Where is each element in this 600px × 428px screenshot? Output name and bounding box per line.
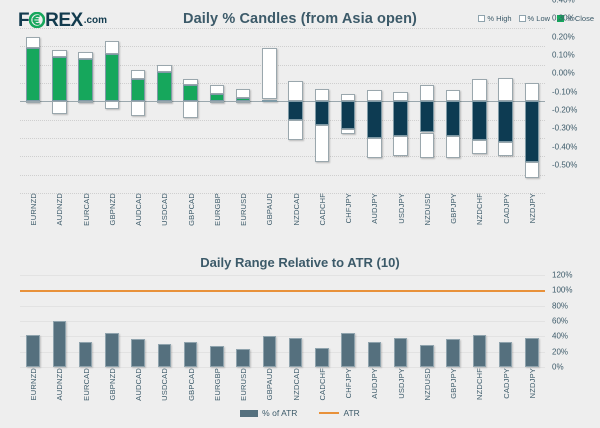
candle-low-segment [157,101,172,103]
y-axis-tick-label: 0.30% [552,14,575,23]
x-axis-tick-label: CHFJPY [344,368,353,398]
atr-bar [315,348,329,367]
atr-bar [499,342,513,367]
y-axis-tick-label: 0.40% [552,0,575,5]
atr-bar [158,344,172,367]
legend-label-atr: ATR [343,408,359,418]
candle [26,28,41,193]
y-axis-tick-label: 0.00% [552,69,575,78]
candle-close-body [288,101,303,119]
candle-low-segment [472,140,487,155]
x-axis-tick-label: NZDUSD [423,193,432,225]
atr-bar [53,321,67,367]
y-axis-tick-label: -0.10% [552,87,577,96]
candle-low-segment [341,129,356,135]
candle-close-body [315,101,330,125]
candle-high-segment [236,89,251,98]
candle-close-body [420,101,435,132]
atr-bar [420,345,434,367]
candle-high-segment [288,81,303,101]
x-axis-tick-label: GBPCAD [187,193,196,226]
candle-close-body [262,100,277,102]
candle-high-segment [341,94,356,101]
y-axis-tick-label: -0.40% [552,142,577,151]
legend-swatch-pct-of-atr [240,410,258,417]
atr-bar [210,346,224,367]
x-axis-tick-label: NZDCAD [292,368,301,400]
candle [472,28,487,193]
y-axis-tick-label: 100% [552,286,572,295]
candle [210,28,225,193]
atr-bar [131,339,145,367]
candle-close-body [131,79,146,101]
atr-bar [525,338,539,367]
x-axis-tick-label: USDJPY [397,368,406,399]
candle-low-segment [288,120,303,140]
x-axis-tick-label: NZDCHF [475,193,484,225]
candles-plot-area [20,28,545,193]
candles-x-axis: EURNZDAUDNZDEURCADGBPNZDAUDCADUSDCADGBPC… [20,193,545,241]
x-axis-tick-label: GBPJPY [449,368,458,399]
x-axis-tick-label: EURNZD [29,193,38,225]
legend-item-atr: ATR [319,408,359,418]
x-axis-tick-label: GBPNZD [108,193,117,225]
y-axis-tick-label: -0.50% [552,161,577,170]
x-axis-tick-label: AUDCAD [134,368,143,401]
atr-bar [394,338,408,367]
grid-line [20,138,545,139]
candle [341,28,356,193]
candle [393,28,408,193]
candle-high-segment [367,90,382,101]
candle [131,28,146,193]
candle-low-segment [367,138,382,158]
atr-bar [263,336,277,367]
candle-low-segment [420,133,435,159]
candle-low-segment [393,136,408,156]
y-axis-tick-label: 40% [552,332,568,341]
x-axis-tick-label: GBPCAD [187,368,196,401]
atr-bar [368,342,382,367]
atr-bar [105,333,119,368]
y-axis-tick-label: 20% [552,347,568,356]
grid-line [20,46,545,47]
candle-low-segment [446,136,461,158]
candle-close-body [157,72,172,101]
candle [498,28,513,193]
grid-line [20,352,545,353]
candle-close-body [52,57,67,101]
candle [262,28,277,193]
grid-line [20,156,545,157]
candle-close-body [210,94,225,101]
atr-y-axis: 120%100%80%60%40%20%0% [552,275,600,367]
grid-line [20,306,545,307]
y-axis-tick-label: 0.20% [552,32,575,41]
candle-high-segment [157,65,172,72]
candle-high-segment [472,79,487,101]
atr-bar [446,339,460,367]
candle-low-segment [183,101,198,118]
candle [157,28,172,193]
candle-high-segment [262,48,277,99]
candle-close-body [78,59,93,101]
atr-bar [289,338,303,367]
candle-high-segment [26,37,41,48]
legend-swatch-low [519,15,526,22]
candle-close-body [26,48,41,101]
atr-bar [341,333,355,368]
legend-label-high: % High [487,14,511,23]
y-axis-tick-label: 0.10% [552,51,575,60]
candle [52,28,67,193]
candle-close-body [183,85,198,102]
x-axis-tick-label: CADCHF [318,193,327,225]
candle [236,28,251,193]
candle-low-segment [52,101,67,114]
x-axis-tick-label: CADJPY [502,193,511,224]
candle-close-body [525,101,540,162]
x-axis-tick-label: AUDJPY [370,193,379,224]
candle-close-body [341,101,356,129]
x-axis-tick-label: CADCHF [318,368,327,400]
atr-plot-area [20,275,545,367]
atr-bar [473,335,487,367]
candle-close-body [367,101,382,138]
y-axis-tick-label: 0% [552,363,564,372]
candle-low-segment [236,101,251,103]
x-axis-tick-label: AUDNZD [55,368,64,400]
daily-percent-candles-chart [0,28,600,193]
bottom-chart-legend: % of ATR ATR [0,408,600,418]
x-axis-tick-label: EURCAD [82,193,91,226]
y-axis-tick-label: 80% [552,301,568,310]
x-axis-tick-label: GBPNZD [108,368,117,400]
candle-low-segment [315,125,330,162]
x-axis-tick-label: CHFJPY [344,193,353,223]
candle-low-segment [210,101,225,103]
candle [315,28,330,193]
grid-line [20,28,545,29]
zero-line [20,101,545,102]
legend-item-low: % Low [519,14,551,23]
x-axis-tick-label: AUDJPY [370,368,379,399]
grid-line [20,83,545,84]
candle-low-segment [525,162,540,179]
y-axis-tick-label: 60% [552,317,568,326]
atr-reference-line [20,290,545,292]
atr-bar [26,335,40,367]
legend-label-pct-of-atr: % of ATR [262,408,297,418]
y-axis-tick-label: 120% [552,271,572,280]
x-axis-tick-label: USDCAD [160,368,169,401]
candle-low-segment [105,101,120,108]
grid-line [20,65,545,66]
x-axis-tick-label: EURNZD [29,368,38,400]
grid-line [20,120,545,121]
candle-high-segment [446,90,461,101]
x-axis-tick-label: NZDJPY [528,193,537,223]
legend-label-low: % Low [528,14,551,23]
x-axis-tick-label: NZDCHF [475,368,484,400]
candle [183,28,198,193]
legend-item-pct-of-atr: % of ATR [240,408,297,418]
bottom-chart-title: Daily Range Relative to ATR (10) [0,255,600,270]
y-axis-tick-label: -0.20% [552,106,577,115]
candle-high-segment [105,41,120,54]
grid-line [20,321,545,322]
candle-close-body [446,101,461,136]
legend-item-high: % High [478,14,511,23]
candle-close-body [393,101,408,136]
candle [78,28,93,193]
x-axis-tick-label: EURGBP [213,368,222,401]
candle-low-segment [78,101,93,103]
x-axis-tick-label: CADJPY [502,368,511,399]
daily-range-atr-chart [0,275,600,367]
candle-high-segment [498,78,513,102]
candle [525,28,540,193]
candle-low-segment [131,101,146,116]
x-axis-tick-label: EURGBP [213,193,222,226]
atr-bar [236,349,250,367]
x-axis-tick-label: GBPJPY [449,193,458,224]
legend-swatch-atr [319,412,339,414]
candle [367,28,382,193]
candle-low-segment [498,142,513,157]
candles-y-axis: 0.40%0.30%0.20%0.10%0.00%-0.10%-0.20%-0.… [552,0,600,165]
y-axis-tick-label: -0.30% [552,124,577,133]
candle-high-segment [420,85,435,102]
candle-high-segment [78,52,93,59]
grid-line [20,336,545,337]
x-axis-tick-label: EURUSD [239,368,248,401]
candle-close-body [105,54,120,102]
grid-line [20,175,545,176]
candle [420,28,435,193]
x-axis-tick-label: GBPAUD [265,193,274,225]
candle-close-body [472,101,487,140]
candle-low-segment [26,101,41,103]
page-header: F REX .com Daily % Candles (from Asia op… [0,0,600,30]
candle-high-segment [525,83,540,101]
candle [446,28,461,193]
atr-bar [184,342,198,367]
x-axis-tick-label: EURUSD [239,193,248,226]
x-axis-tick-label: NZDJPY [528,368,537,398]
candle-high-segment [393,92,408,101]
x-axis-tick-label: GBPAUD [265,368,274,400]
atr-bar [79,342,93,367]
x-axis-tick-label: NZDUSD [423,368,432,400]
candle-high-segment [315,89,330,102]
x-axis-tick-label: AUDNZD [55,193,64,225]
candle-high-segment [131,70,146,79]
legend-swatch-high [478,15,485,22]
candle [105,28,120,193]
x-axis-tick-label: NZDCAD [292,193,301,225]
x-axis-tick-label: EURCAD [82,368,91,401]
grid-line [20,275,545,276]
candle-high-segment [52,50,67,57]
candle [288,28,303,193]
x-axis-tick-label: USDCAD [160,193,169,226]
candle-close-body [498,101,513,141]
x-axis-tick-label: USDJPY [397,193,406,224]
x-axis-tick-label: AUDCAD [134,193,143,226]
candle-high-segment [210,85,225,94]
